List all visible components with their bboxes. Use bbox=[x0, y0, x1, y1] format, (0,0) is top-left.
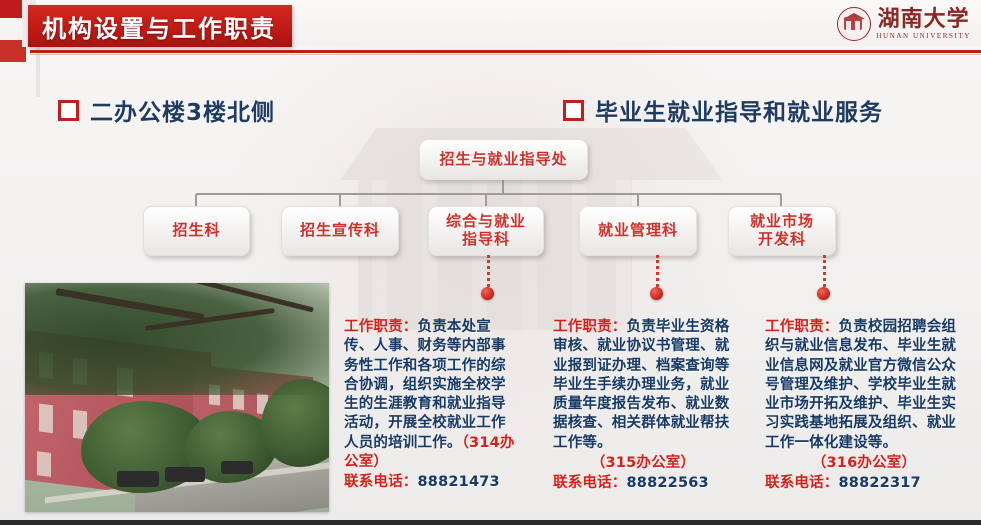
section-heading-right-text: 毕业生就业指导和就业服务 bbox=[595, 93, 883, 127]
footer-bar bbox=[0, 520, 981, 525]
duty-telephone-label: 联系电话： bbox=[553, 475, 627, 491]
header-decor-square-top bbox=[0, 0, 22, 18]
org-node-root-label: 招生与就业指导处 bbox=[439, 151, 567, 169]
duty-label: 工作职责： bbox=[765, 319, 839, 335]
square-bullet-icon bbox=[58, 100, 79, 121]
callout-dot-2 bbox=[650, 287, 663, 300]
org-node-jiuye-guanlike[interactable]: 就业管理科 bbox=[579, 206, 697, 256]
org-node-label: 综合与就业指导科 bbox=[443, 213, 529, 248]
page-title-text: 机构设置与工作职责 bbox=[42, 9, 276, 44]
duty-column-3: 工作职责：负责校园招聘会组织与就业信息发布、毕业生就业信息网及就业官方微信公众号… bbox=[765, 318, 963, 494]
duty-telephone-label: 联系电话： bbox=[765, 475, 839, 491]
org-node-jiuye-shichang-kaifake[interactable]: 就业市场开发科 bbox=[728, 206, 836, 256]
university-logo: 湖南大学 HUNAN UNIVERSITY bbox=[837, 4, 971, 44]
logo-name-en: HUNAN UNIVERSITY bbox=[876, 33, 971, 40]
callout-dotted-line-3 bbox=[823, 255, 826, 287]
duty-telephone-number: 88821473 bbox=[418, 474, 500, 490]
duty-label: 工作职责： bbox=[553, 319, 627, 335]
duty-room: （315办公室） bbox=[553, 454, 733, 473]
callout-dot-3 bbox=[817, 287, 830, 300]
callout-dot-1 bbox=[481, 287, 494, 300]
org-node-label: 就业管理科 bbox=[598, 222, 678, 240]
header-rule bbox=[30, 50, 981, 53]
callout-dotted-line-1 bbox=[487, 255, 490, 287]
org-node-zhaoshengke[interactable]: 招生科 bbox=[143, 206, 250, 256]
section-heading-left-text: 二办公楼3楼北侧 bbox=[90, 93, 275, 127]
duty-body: 负责本处宣传、人事、财务等内部事务性工作和各项工作的综合协调，组织实施全校学生的… bbox=[344, 319, 506, 451]
duty-room: （316办公室） bbox=[765, 454, 963, 473]
org-node-label: 招生宣传科 bbox=[300, 222, 380, 240]
duty-body: 负责校园招聘会组织与就业信息发布、毕业生就业信息网及就业官方微信公众号管理及维护… bbox=[765, 319, 956, 451]
logo-name-cn: 湖南大学 bbox=[878, 8, 970, 30]
duty-telephone-number: 88822317 bbox=[839, 475, 921, 491]
org-node-label: 就业市场开发科 bbox=[744, 213, 820, 248]
section-heading-left: 二办公楼3楼北侧 bbox=[58, 93, 275, 127]
duty-telephone: 联系电话：88822563 bbox=[553, 474, 733, 493]
duty-column-2: 工作职责：负责毕业生资格审核、就业协议书管理、就业报到证办理、档案查询等毕业生手… bbox=[553, 318, 733, 494]
duty-body: 负责毕业生资格审核、就业协议书管理、就业报到证办理、档案查询等毕业生手续办理业务… bbox=[553, 319, 729, 451]
duty-column-1: 工作职责：负责本处宣传、人事、财务等内部事务性工作和各项工作的综合协调，组织实施… bbox=[344, 318, 519, 493]
slide-canvas: 机构设置与工作职责 湖南大学 HUNAN UNIVERSITY 二办公楼3楼北侧… bbox=[0, 0, 981, 525]
page-title: 机构设置与工作职责 bbox=[28, 5, 292, 47]
duty-label: 工作职责： bbox=[344, 319, 418, 335]
section-heading-right: 毕业生就业指导和就业服务 bbox=[563, 93, 883, 127]
org-node-label: 招生科 bbox=[172, 222, 220, 240]
duty-telephone: 联系电话：88822317 bbox=[765, 474, 963, 493]
org-node-zonghe-jiuye-zhidaoke[interactable]: 综合与就业指导科 bbox=[428, 206, 544, 256]
university-emblem-icon bbox=[837, 7, 871, 41]
square-bullet-icon bbox=[563, 100, 584, 121]
duty-telephone: 联系电话：88821473 bbox=[344, 473, 519, 492]
duty-telephone-number: 88822563 bbox=[627, 475, 709, 491]
connector-root-vertical bbox=[502, 178, 504, 194]
callout-dotted-line-2 bbox=[656, 255, 659, 287]
connector-horizontal-bus bbox=[196, 193, 781, 195]
duty-telephone-label: 联系电话： bbox=[344, 474, 418, 490]
campus-photo bbox=[25, 283, 329, 512]
header-rule-thin bbox=[30, 54, 981, 55]
org-node-zhaoshengxuanchuanke[interactable]: 招生宣传科 bbox=[281, 206, 399, 256]
org-node-root[interactable]: 招生与就业指导处 bbox=[419, 139, 588, 180]
